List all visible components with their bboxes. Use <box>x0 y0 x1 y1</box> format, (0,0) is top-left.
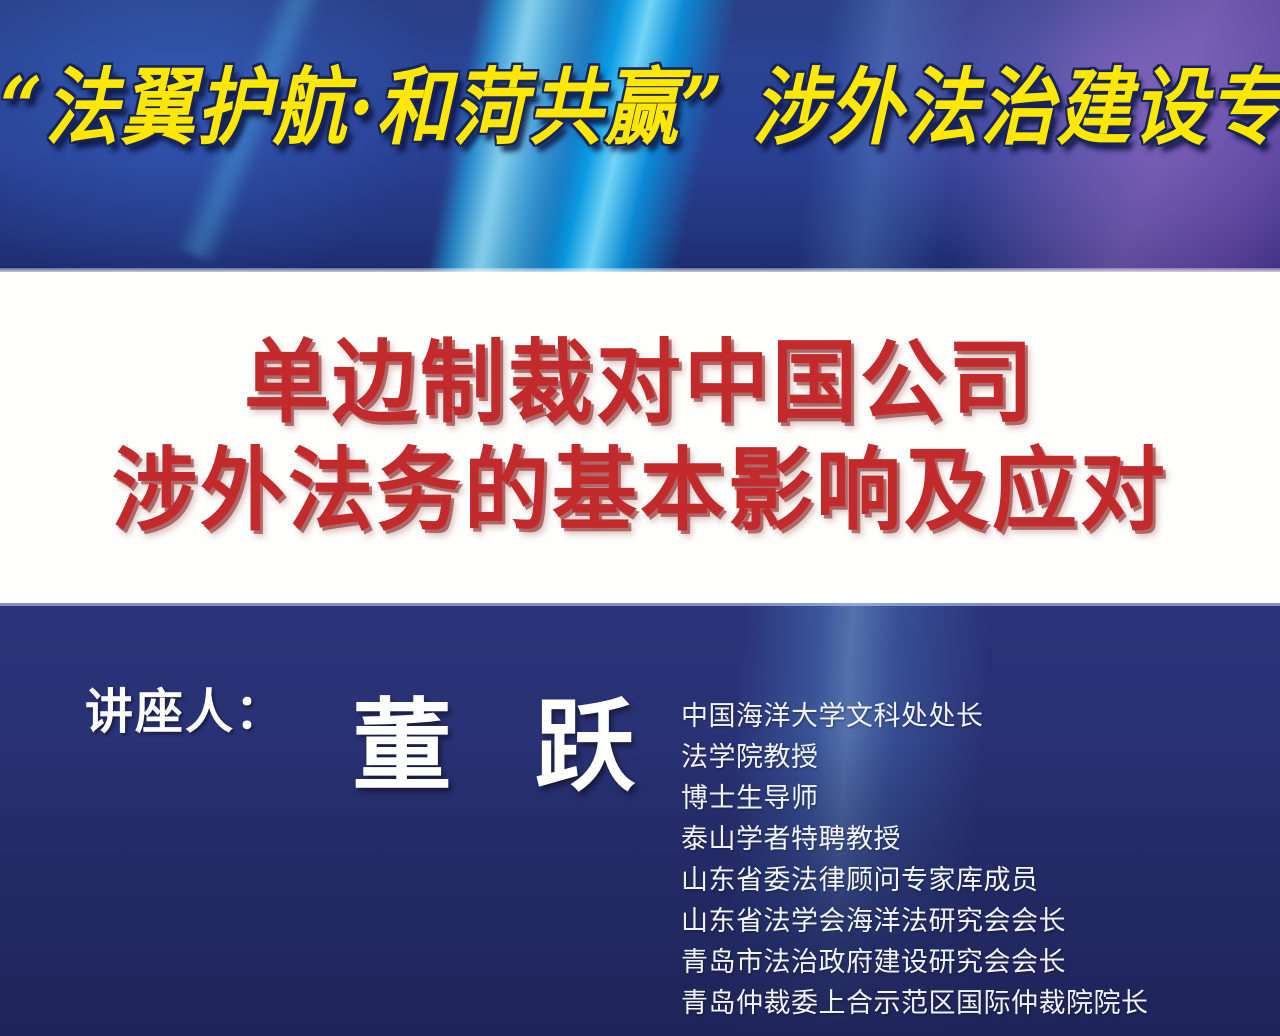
credential-item: 青岛仲裁委上合示范区国际仲裁院院长 <box>681 983 1241 1024</box>
main-title-line-1: 单边制裁对中国公司 <box>244 327 1036 441</box>
credential-item: 法学院教授 <box>681 737 1241 778</box>
credential-item: 中国海洋大学文科处处长 <box>681 696 1241 737</box>
banner-header: “法翼护航·和菏共赢” 涉外法治建设专题研讨班 <box>0 0 1280 272</box>
speaker-panel-top-divider <box>0 603 1280 606</box>
credential-item: 山东省委法律顾问专家库成员 <box>681 860 1241 901</box>
seminar-poster: “法翼护航·和菏共赢” 涉外法治建设专题研讨班 单边制裁对中国公司 涉外法务的基… <box>0 0 1280 1036</box>
credential-item: 青岛市法治政府建设研究会会长 <box>681 942 1241 983</box>
credential-item: 泰山学者特聘教授 <box>681 819 1241 860</box>
main-title-panel: 单边制裁对中国公司 涉外法务的基本影响及应对 <box>0 272 1280 603</box>
main-title-line-2: 涉外法务的基本影响及应对 <box>112 434 1168 548</box>
credential-item: 博士生导师 <box>681 778 1241 819</box>
banner-title: “法翼护航·和菏共赢” 涉外法治建设专题研讨班 <box>0 64 1280 154</box>
speaker-credentials-list: 中国海洋大学文科处处长 法学院教授 博士生导师 泰山学者特聘教授 山东省委法律顾… <box>681 696 1241 1024</box>
speaker-label: 讲座人： <box>85 672 285 742</box>
speaker-name: 董 跃 <box>352 665 659 810</box>
credential-item: 山东省法学会海洋法研究会会长 <box>681 901 1241 942</box>
